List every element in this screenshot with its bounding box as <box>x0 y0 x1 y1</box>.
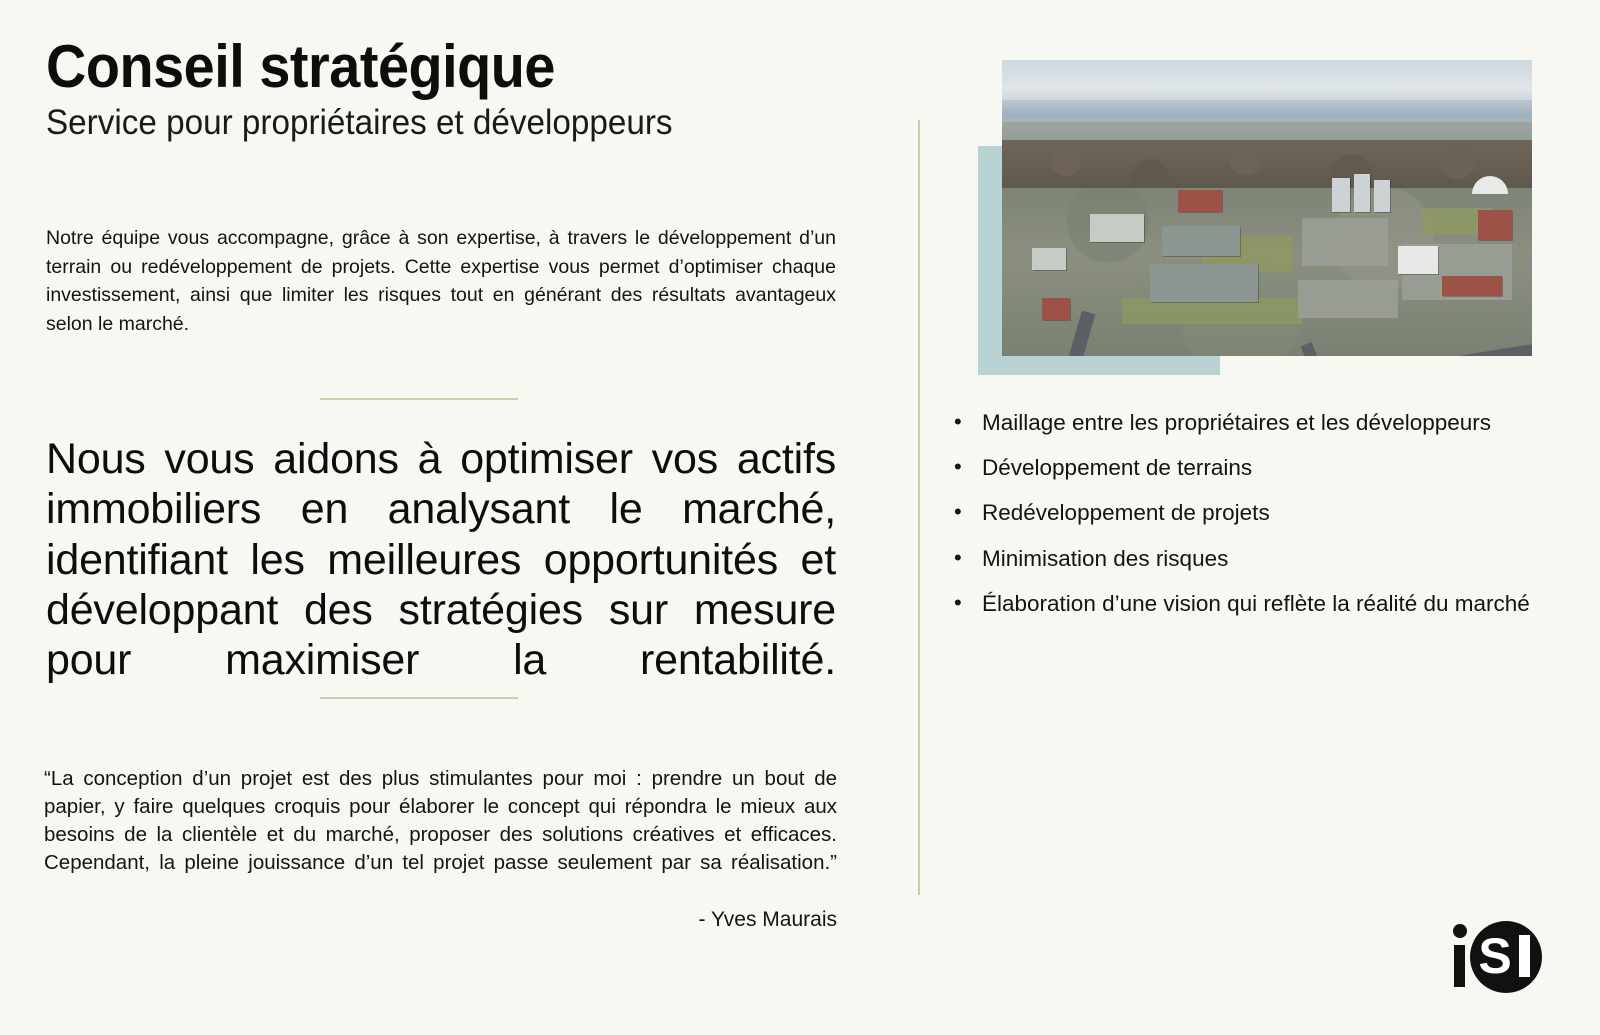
isi-logo: S <box>1424 893 1544 993</box>
page-title: Conseil stratégique <box>46 36 783 97</box>
photo-building <box>1478 210 1512 240</box>
photo-parking-lot <box>1298 280 1398 318</box>
list-item: Élaboration d’une vision qui reflète la … <box>950 587 1530 621</box>
photo-building <box>1398 246 1438 274</box>
horizontal-rule-bottom <box>320 697 518 699</box>
list-item: Minimisation des risques <box>950 542 1530 576</box>
benefits-list: Maillage entre les propriétaires et les … <box>950 406 1530 632</box>
quote-author: - Yves Maurais <box>44 908 837 932</box>
photo-building <box>1042 298 1070 320</box>
quote-text: “La conception d’un projet est des plus … <box>44 765 837 904</box>
list-item: Redéveloppement de projets <box>950 496 1530 530</box>
aerial-photo <box>1002 60 1532 356</box>
page-subtitle: Service pour propriétaires et développeu… <box>46 103 798 142</box>
photo-forest-band <box>1002 140 1532 194</box>
slide-canvas: Conseil stratégique Service pour proprié… <box>0 0 1600 1035</box>
photo-parking-lot <box>1302 218 1388 266</box>
photo-building <box>1150 264 1258 302</box>
photo-building <box>1162 226 1240 256</box>
photo-road <box>1301 342 1376 356</box>
quote-block: “La conception d’un projet est des plus … <box>44 765 837 932</box>
intro-paragraph: Notre équipe vous accompagne, grâce à so… <box>46 224 836 339</box>
logo-i-dot <box>1453 924 1467 938</box>
photo-building <box>1032 248 1066 270</box>
horizontal-rule-top <box>320 398 518 400</box>
photo-building <box>1090 214 1144 242</box>
photo-building <box>1178 190 1222 212</box>
vertical-divider <box>918 120 920 895</box>
photo-tower <box>1332 178 1350 212</box>
photo-building <box>1442 276 1502 296</box>
photo-tower <box>1354 174 1370 212</box>
photo-tower <box>1374 180 1390 212</box>
left-column-header: Conseil stratégique Service pour proprié… <box>46 36 838 142</box>
logo-letter-s: S <box>1478 931 1512 981</box>
logo-letter-i-capital <box>1519 935 1530 977</box>
list-item: Maillage entre les propriétaires et les … <box>950 406 1530 440</box>
list-item: Développement de terrains <box>950 451 1530 485</box>
statement-text: Nous vous aidons à optimiser vos actifs … <box>46 434 836 736</box>
logo-letter-i <box>1454 945 1465 987</box>
photo-ground-band <box>1002 188 1532 356</box>
